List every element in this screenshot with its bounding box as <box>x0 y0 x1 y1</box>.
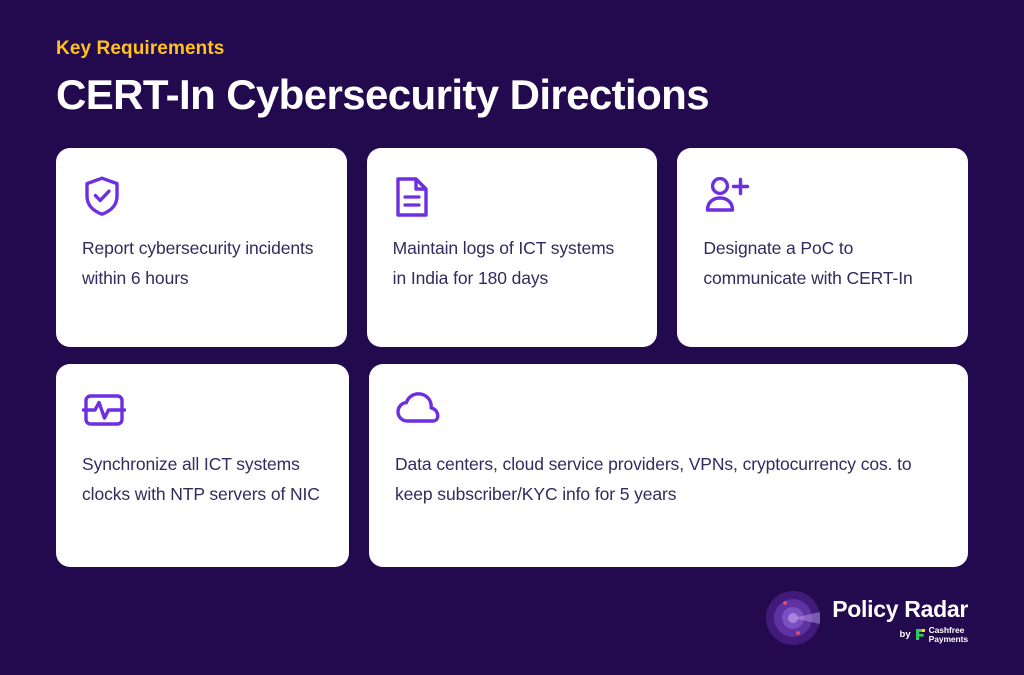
requirement-card-1-text: Report cybersecurity incidents within 6 … <box>82 234 321 292</box>
requirement-card-2-text: Maintain logs of ICT systems in India fo… <box>393 234 632 292</box>
infographic-poster: Key Requirements CERT-In Cybersecurity D… <box>0 0 1024 675</box>
eyebrow-label: Key Requirements <box>56 38 968 61</box>
radar-logo-icon <box>765 590 821 651</box>
requirement-card-1: Report cybersecurity incidents within 6 … <box>56 148 347 347</box>
requirement-card-4-text: Synchronize all ICT systems clocks with … <box>82 450 323 508</box>
monitor-pulse-icon <box>82 391 323 437</box>
document-lines-icon <box>393 175 632 221</box>
shield-check-icon <box>82 175 321 221</box>
requirement-card-4: Synchronize all ICT systems clocks with … <box>56 364 349 567</box>
person-add-icon <box>703 175 942 221</box>
requirement-card-2: Maintain logs of ICT systems in India fo… <box>367 148 658 347</box>
cashfree-f-icon <box>915 628 926 641</box>
cloud-icon <box>395 391 942 437</box>
requirement-card-3-text: Designate a PoC to communicate with CERT… <box>703 234 942 292</box>
brand-lockup: Policy Radar by Cashfree Payments <box>765 590 968 651</box>
cashfree-logo: Cashfree Payments <box>915 626 968 644</box>
brand-name: Policy Radar <box>832 597 968 622</box>
page-title: CERT-In Cybersecurity Directions <box>56 70 968 120</box>
requirement-card-5-text: Data centers, cloud service providers, V… <box>395 450 942 508</box>
requirement-card-3: Designate a PoC to communicate with CERT… <box>677 148 968 347</box>
brand-parent-line: by Cashfree Payments <box>900 626 968 644</box>
requirements-row-top: Report cybersecurity incidents within 6 … <box>56 148 968 347</box>
requirements-row-bottom: Synchronize all ICT systems clocks with … <box>56 364 968 567</box>
requirement-card-5: Data centers, cloud service providers, V… <box>369 364 968 567</box>
brand-by-label: by <box>900 629 911 640</box>
brand-text-block: Policy Radar by Cashfree Payments <box>832 597 968 643</box>
cashfree-payments-label: Payments <box>929 635 968 644</box>
header: Key Requirements CERT-In Cybersecurity D… <box>56 0 968 119</box>
requirements-grid: Report cybersecurity incidents within 6 … <box>56 148 968 567</box>
